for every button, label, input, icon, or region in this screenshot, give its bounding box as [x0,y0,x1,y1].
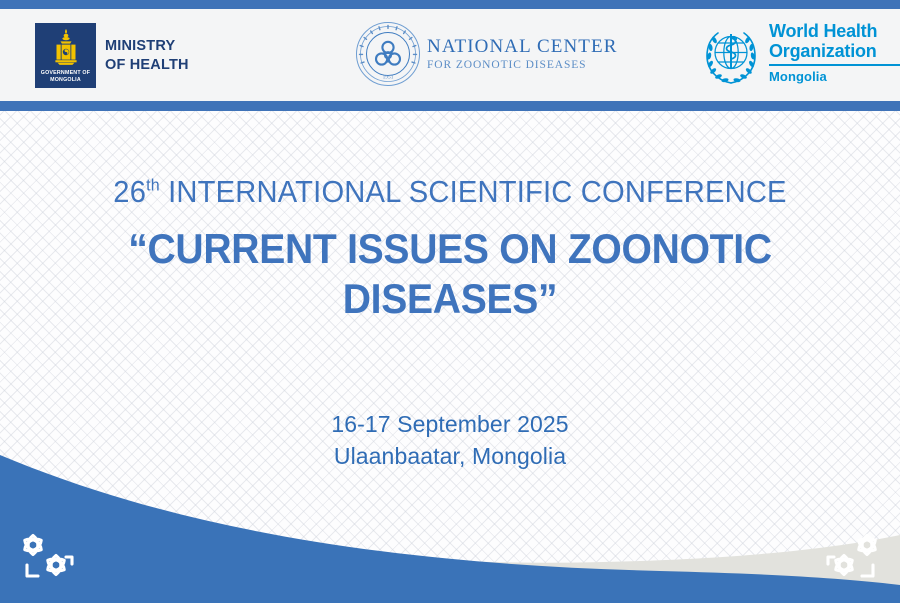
who-logo: World Health Organization Mongolia [700,21,900,87]
ministry-name-line2: OF HEALTH [105,57,189,73]
state-emblem-caption: GOVERNMENT OF MONGOLIA [35,70,96,84]
conference-meta: 16-17 September 2025 Ulaanbaatar, Mongol… [0,408,900,472]
national-center-name: NATIONAL CENTER FOR ZOONOTIC DISEASES [427,37,617,72]
conference-number: 26 [113,174,146,209]
conference-number-line: 26th INTERNATIONAL SCIENTIFIC CONFERENCE [27,174,873,210]
conference-location: Ulaanbaatar, Mongolia [0,440,900,472]
mongolia-state-emblem: GOVERNMENT OF MONGOLIA [35,23,96,88]
who-name-line2: Organization [769,41,877,61]
conference-theme-title: “CURRENT ISSUES ON ZOONOTIC DISEASES” [32,224,869,324]
mongolia-soyombo-icon [49,28,83,66]
ministry-of-health-name: MINISTRY OF HEALTH [105,37,189,75]
biohazard-seal-icon: 1951 [355,21,421,87]
who-name: World Health Organization [769,21,900,61]
national-center-name-line2: FOR ZOONOTIC DISEASES [427,60,617,72]
ministry-of-health-logo: GOVERNMENT OF MONGOLIA MINISTRY OF HEALT… [35,23,189,88]
who-name-line1: World Health [769,21,877,41]
logo-row: GOVERNMENT OF MONGOLIA MINISTRY OF HEALT… [0,9,900,101]
state-emblem-caption-line2: MONGOLIA [50,77,81,83]
seal-year: 1951 [383,75,394,81]
conference-line-rest: INTERNATIONAL SCIENTIFIC CONFERENCE [160,174,787,209]
slide-content: 26th INTERNATIONAL SCIENTIFIC CONFERENCE… [0,111,900,472]
national-center-logo: 1951 NATIONAL CENTER FOR ZOONOTIC DISEAS… [355,21,617,87]
conference-title-slide: GOVERNMENT OF MONGOLIA MINISTRY OF HEALT… [0,0,900,603]
who-wordmark: World Health Organization Mongolia [769,21,900,84]
national-center-name-line1: NATIONAL CENTER [427,37,617,56]
who-country-label: Mongolia [769,69,900,84]
mongolian-knot-ornament-icon [820,529,884,585]
conference-dates: 16-17 September 2025 [0,408,900,440]
ministry-name-line1: MINISTRY [105,38,175,54]
who-underline [769,64,900,66]
state-emblem-caption-line1: GOVERNMENT OF [41,70,90,76]
who-emblem-icon [700,25,762,87]
mongolian-knot-ornament-icon [16,529,80,585]
top-accent-bar [0,0,900,9]
conference-ordinal: th [146,176,160,195]
header-divider-bar [0,101,900,111]
